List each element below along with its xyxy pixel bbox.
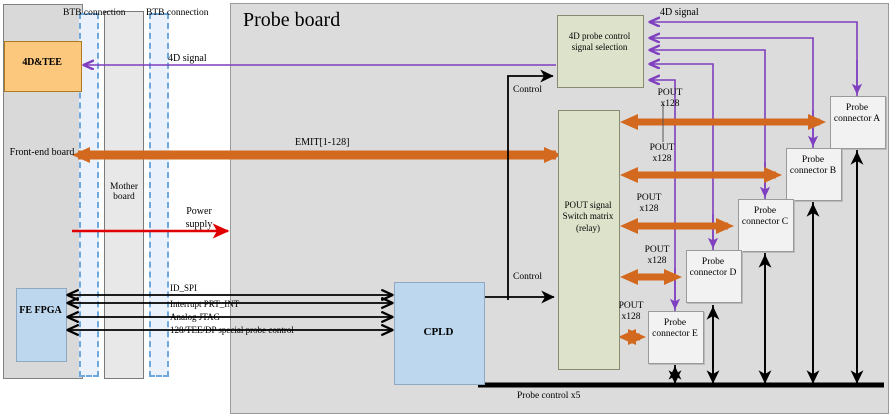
probe-connector-e-label: Probe connector E (648, 318, 702, 341)
label-signal-id-spi: ID_SPI (170, 283, 197, 293)
btb-connection-left-label: BTB connection (63, 8, 126, 18)
bus-pout-3 (620, 218, 734, 234)
probe-connector-a-label: Probe connector A (830, 103, 884, 126)
probe-connector-b-label: Probe connector B (786, 155, 840, 178)
label-signal-interrupt: Interrupt PRT_INT (170, 299, 239, 309)
label-probe-control-bus: Probe control x5 (517, 391, 580, 401)
label-power-supply: Power supply (176, 205, 222, 231)
bus-pout-4 (620, 269, 682, 285)
label-pout-bus-4: POUT x128 (640, 245, 674, 267)
probe-connector-d-label: Probe connector D (686, 257, 740, 280)
fourd-selection-label: 4D probe control signal selection (559, 31, 640, 54)
front-end-board-label: Front-end board (6, 148, 78, 159)
label-4d-signal-left: 4D signal (168, 54, 207, 65)
label-control-top: Control (513, 85, 542, 95)
probe-board-title: Probe board (243, 10, 340, 32)
label-pout-bus-1: POUT x128 (653, 88, 687, 110)
bus-pout-2 (620, 167, 782, 183)
label-emit-bus: EMIT[1-128] (295, 138, 349, 149)
btb-connection-right-label: BTB connection (146, 8, 209, 18)
label-pout-bus-5: POUT x128 (614, 301, 648, 323)
label-4d-signal-top: 4D signal (660, 8, 699, 19)
wire-emit-bus (72, 147, 562, 163)
cpld-label: CPLD (394, 327, 483, 339)
bus-pout-1 (620, 114, 826, 130)
label-signal-analog-jtag: Analog JTAG (170, 312, 220, 322)
pout-matrix-label: POUT signal Switch matrix (relay) (556, 200, 620, 234)
wire-control-top (508, 76, 553, 300)
mother-board-label: Mother board (107, 182, 141, 203)
label-signal-special-probe-control: 128/TEE/DP special probe control (170, 325, 294, 335)
diagram-canvas: Probe board BTB connection BTB connectio… (0, 0, 890, 415)
pout-signal-switch-matrix-block (558, 110, 620, 370)
label-control-matrix: Control (513, 272, 542, 282)
tee-block-label: 4D&TEE (4, 58, 80, 69)
label-pout-bus-2: POUT x128 (645, 143, 679, 165)
fe-fpga-label: FE FPGA (16, 306, 65, 317)
label-pout-bus-3: POUT x128 (632, 193, 666, 215)
probe-connector-c-label: Probe connector C (738, 206, 792, 229)
bus-pout-5 (618, 329, 646, 345)
